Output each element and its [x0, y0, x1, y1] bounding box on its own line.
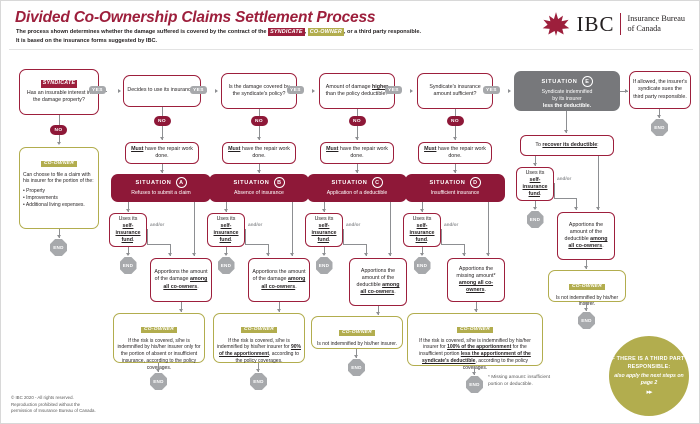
arrow-down — [355, 170, 359, 173]
arrow-down — [364, 253, 368, 256]
situation-title-b: SITUATION B — [211, 177, 307, 188]
no-label-a: NO — [154, 116, 171, 126]
connector — [554, 198, 577, 199]
question-node-insurable-interest[interactable]: SYNDICATE Has an insurable interest in t… — [19, 69, 99, 115]
situation-desc-a: Refuses to submit a claim — [113, 190, 209, 197]
situation-node-d[interactable]: SITUATION D Insufficient insurance — [405, 174, 505, 202]
andor-label-a: and/or — [150, 222, 164, 227]
coowner-bullet-0: • Property — [23, 188, 95, 195]
apportion-node-a: Apportions the amount of the damage amon… — [150, 258, 212, 302]
arrow-down — [453, 170, 457, 173]
connector — [259, 109, 260, 116]
arrow-down — [224, 209, 228, 212]
arrow-down — [533, 207, 537, 210]
situation-title-a: SITUATION A — [113, 177, 209, 188]
coowner-node-c[interactable]: CO-OWNER Is not indemnified by his/her i… — [311, 316, 403, 349]
copyright-notice: © IBC 2020 - All rights reserved. Reprod… — [11, 395, 96, 415]
arrow-down — [224, 253, 228, 256]
fund-node-b: Uses itsself-insurance fund. — [207, 213, 245, 247]
arrow-down — [257, 137, 261, 140]
coowner-bullets: • Property • Improvements • Additional l… — [23, 188, 95, 208]
header-divider — [9, 49, 693, 50]
andor-label-e: and/or — [557, 176, 571, 181]
situation-letter-b: B — [274, 177, 285, 188]
connector — [147, 244, 171, 245]
connector — [147, 229, 148, 245]
situation-letter-e: E — [582, 76, 593, 87]
yes-label-b: YES — [287, 86, 304, 94]
arrow-down — [474, 309, 478, 312]
arrow-down — [290, 253, 294, 256]
third-party-callout-title: IF THERE IS A THIRD PARTY RESPONSIBLE: — [609, 356, 689, 371]
coowner-text-b: If the risk is covered, s/he is indemnif… — [217, 338, 301, 365]
arrow-down — [256, 369, 260, 372]
copyright-line-2: Reproduction prohibited without the — [11, 402, 96, 409]
connector — [194, 202, 195, 256]
subtitle-part-1: The process shown determines whether the… — [16, 29, 268, 35]
syndicate-badge: SYNDICATE — [41, 80, 78, 87]
must-node-c: Must have the repair work done. — [320, 142, 394, 164]
recover-node-e: To recover its deductible: — [520, 135, 614, 156]
coowner-node-b[interactable]: CO-OWNER If the risk is covered, s/he is… — [213, 313, 305, 363]
connector — [245, 229, 246, 245]
fund-node-d: Uses itsself-insurance fund. — [403, 213, 441, 247]
apportion-node-e: Apportions the amount of the deductible … — [557, 212, 615, 260]
arrow-down — [322, 209, 326, 212]
apportion-node-c: Apportions the amount of the deductible … — [349, 258, 407, 306]
coowner-header-c: CO-OWNER — [339, 330, 375, 336]
arrow-down — [376, 312, 380, 315]
end-node: END — [250, 373, 267, 390]
arrow-down — [354, 355, 358, 358]
poster-root: Divided Co-Ownership Claims Settlement P… — [0, 0, 700, 424]
arrow-down — [257, 170, 261, 173]
arrow-down — [266, 253, 270, 256]
page-title: Divided Co-Ownership Claims Settlement P… — [15, 9, 375, 27]
connector — [554, 183, 555, 199]
coowner-node-d[interactable]: CO-OWNER If the risk is covered, s/he is… — [407, 313, 543, 366]
end-node: END — [218, 257, 235, 274]
no-label-d: NO — [447, 116, 464, 126]
must-node-b: Must have the repair work done. — [222, 142, 296, 164]
coowner-text-c: Is not indemnified by his/her insurer. — [315, 341, 399, 348]
arrow-down — [584, 308, 588, 311]
situation-node-b[interactable]: SITUATION B Absence of insurance — [209, 174, 309, 202]
footnote: * Missing amount: insufficient portion o… — [488, 375, 558, 389]
coowner-header-b: CO-OWNER — [241, 327, 277, 333]
arrow-down — [179, 309, 183, 312]
coowner-header-a: CO-OWNER — [141, 327, 177, 333]
situation-node-a[interactable]: SITUATION A Refuses to submit a claim — [111, 174, 211, 202]
end-node: END — [50, 239, 67, 256]
fund-node-e: Uses itsself-insurance fund. — [516, 167, 554, 201]
no-label-c: NO — [349, 116, 366, 126]
andor-label-c: and/or — [346, 222, 360, 227]
yes-label-d: YES — [483, 86, 500, 94]
apportion-node-d: Apportions the missing amount* among all… — [447, 258, 505, 302]
third-party-callout[interactable]: IF THERE IS A THIRD PARTY RESPONSIBLE: a… — [609, 336, 689, 416]
apportion-node-b: Apportions the amount of the damage amon… — [248, 258, 310, 302]
situation-title-c: SITUATION C — [309, 177, 405, 188]
arrow-down — [564, 130, 568, 133]
coowner-bullet-1: • Improvements — [23, 195, 95, 202]
connector — [162, 107, 163, 116]
logo-wordmark: IBC — [576, 12, 614, 37]
end-node: END — [527, 211, 544, 228]
arrow-right — [625, 89, 628, 93]
coowner-node-e[interactable]: CO-OWNER Is not indemnified by his/her i… — [548, 270, 626, 302]
syndicate-tag: SYNDICATE — [268, 28, 305, 36]
must-node-a: Must have the repair work done. — [125, 142, 199, 164]
third-party-node[interactable]: If allowed, the insurer's syndicate sues… — [629, 71, 691, 109]
arrow-down — [168, 253, 172, 256]
yes-label-c: YES — [385, 86, 402, 94]
end-node: END — [651, 119, 668, 136]
arrow-down — [420, 253, 424, 256]
question-node-d[interactable]: Syndicate's insurance amount sufficient? — [417, 73, 493, 109]
end-node: END — [578, 312, 595, 329]
end-node: END — [466, 376, 483, 393]
maple-leaf-icon — [542, 11, 570, 37]
situation-letter-a: A — [176, 177, 187, 188]
arrow-down — [156, 369, 160, 372]
logo-subtext: Insurance Bureau of Canada — [627, 14, 685, 35]
connector — [343, 229, 344, 245]
coowner-tag: CO-OWNER — [308, 28, 344, 36]
andor-label-d: and/or — [444, 222, 458, 227]
end-node: END — [150, 373, 167, 390]
arrow-right — [508, 89, 511, 93]
end-node: END — [348, 359, 365, 376]
coowner-node-a[interactable]: CO-OWNER If the risk is covered, s/he is… — [113, 313, 205, 363]
arrow-down — [486, 253, 490, 256]
connector — [455, 109, 456, 116]
arrow-down — [57, 142, 61, 145]
situation-title-d: SITUATION D — [407, 177, 503, 188]
andor-label-b: and/or — [248, 222, 262, 227]
arrow-down — [596, 207, 600, 210]
arrow-right — [410, 89, 413, 93]
connector — [441, 244, 465, 245]
situation-letter-c: C — [372, 177, 383, 188]
arrow-down — [533, 163, 537, 166]
arrow-down — [277, 309, 281, 312]
yes-label-0: YES — [89, 86, 106, 94]
coowner-header-e: CO-OWNER — [569, 284, 605, 290]
logo-subtext-line1: Insurance Bureau — [627, 14, 685, 24]
arrow-right — [215, 89, 218, 93]
arrow-down — [57, 235, 61, 238]
situation-desc-b: Absence of insurance — [211, 190, 307, 197]
connector — [59, 115, 60, 125]
situation-desc-d: Insufficient insurance — [407, 190, 503, 197]
coowner-header: CO-OWNER — [41, 161, 77, 167]
fund-node-a: Uses itsself-insurance fund. — [109, 213, 147, 247]
third-party-callout-sub: also apply the next steps on page 2 — [609, 373, 689, 387]
situation-node-c[interactable]: SITUATION C Application of a deductible — [307, 174, 407, 202]
connector — [292, 202, 293, 256]
coowner-node-initial[interactable]: CO-OWNER Can choose to file a claim with… — [19, 147, 99, 229]
arrow-right — [312, 89, 315, 93]
coowner-bullet-2: • Additional living expenses. — [23, 202, 95, 209]
arrow-down — [657, 115, 661, 118]
connector — [357, 109, 358, 116]
situation-desc-c: Application of a deductible — [309, 190, 405, 197]
page-subtitle: The process shown determines whether the… — [16, 28, 436, 45]
connector — [488, 202, 489, 256]
connector — [343, 244, 367, 245]
ibc-logo: IBC Insurance Bureau of Canada — [542, 11, 685, 37]
arrow-down — [453, 137, 457, 140]
arrow-down — [462, 253, 466, 256]
arrow-right — [118, 89, 121, 93]
footnote-text: Missing amount: insufficient portion or … — [488, 375, 550, 387]
arrow-down — [192, 253, 196, 256]
coowner-text: Can choose to file a claim with his insu… — [23, 172, 95, 186]
fund-node-c: Uses itsself-insurance fund. — [305, 213, 343, 247]
arrow-down — [160, 137, 164, 140]
connector — [245, 244, 269, 245]
end-node: END — [120, 257, 137, 274]
question-text: Has an insurable interest in the damage … — [23, 90, 95, 104]
situation-node-e[interactable]: SITUATION E Syndicate indemnified by its… — [514, 71, 620, 111]
situation-desc-e: Syndicate indemnified by its insurer les… — [516, 89, 618, 109]
situation-title-e: SITUATION E — [516, 76, 618, 87]
no-label-b: NO — [251, 116, 268, 126]
no-label-0: NO — [50, 125, 67, 135]
connector — [390, 202, 391, 256]
connector — [598, 156, 599, 210]
arrow-down — [126, 253, 130, 256]
connector — [441, 229, 442, 245]
question-node-c[interactable]: Amount of damage higher than the policy … — [319, 73, 395, 109]
arrow-down — [160, 170, 164, 173]
end-node: END — [316, 257, 333, 274]
arrow-down — [126, 209, 130, 212]
arrow-down — [472, 372, 476, 375]
copyright-line-3: permission of Insurance Bureau of Canada… — [11, 408, 96, 415]
end-node: END — [414, 257, 431, 274]
arrow-down — [388, 253, 392, 256]
logo-subtext-line2: of Canada — [627, 24, 685, 34]
must-node-d: Must have the repair work done. — [418, 142, 492, 164]
yes-label-a: YES — [190, 86, 207, 94]
situation-letter-d: D — [470, 177, 481, 188]
arrow-down — [574, 207, 578, 210]
arrow-down — [355, 137, 359, 140]
coowner-header-d: CO-OWNER — [457, 327, 493, 333]
double-chevron-icon: ▸▸ — [646, 388, 651, 396]
footnote-marker: * — [488, 375, 490, 380]
subtitle-part-4: It is based on the insurance forms sugge… — [16, 38, 157, 44]
logo-divider — [620, 13, 621, 35]
arrow-down — [584, 266, 588, 269]
subtitle-part-3: , or a third party responsible. — [344, 29, 421, 35]
copyright-line-1: © IBC 2020 - All rights reserved. — [11, 395, 96, 402]
arrow-down — [322, 253, 326, 256]
question-node-b[interactable]: Is the damage covered by the syndicate's… — [221, 73, 297, 109]
arrow-down — [420, 209, 424, 212]
